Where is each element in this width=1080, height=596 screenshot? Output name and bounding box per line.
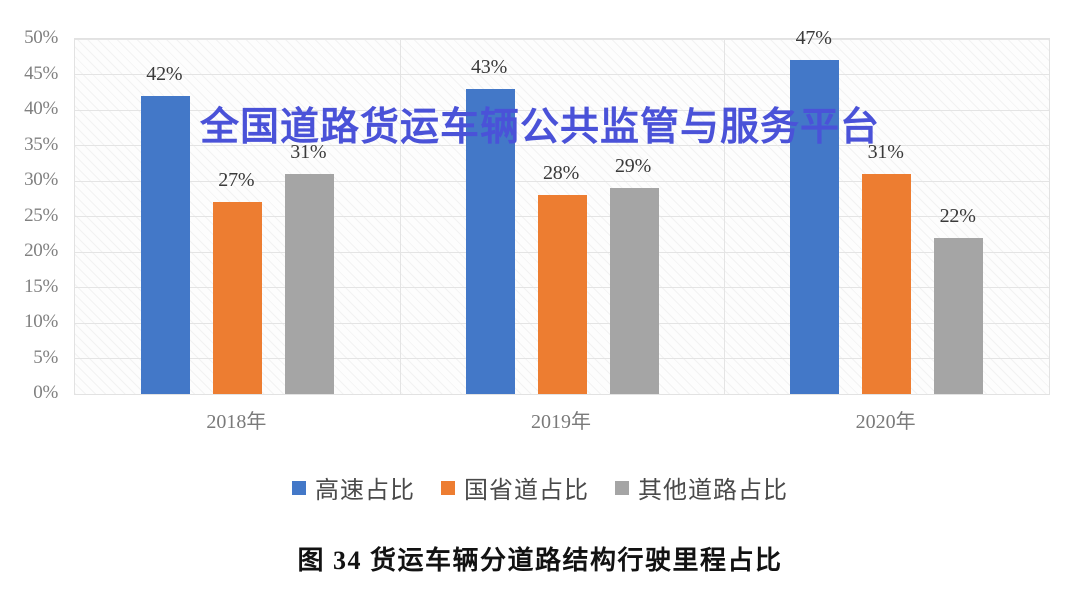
bar-value-label: 47% <box>796 27 832 50</box>
bar-value-label: 28% <box>543 162 579 185</box>
legend-item-label: 其他道路占比 <box>638 470 788 505</box>
legend-item-label: 国省道占比 <box>464 470 589 505</box>
legend-item[interactable]: 国省道占比 <box>441 470 589 505</box>
legend-item[interactable]: 高速占比 <box>292 470 415 505</box>
legend-item-label: 高速占比 <box>315 470 415 505</box>
x-axis-tick-label: 2019年 <box>531 405 591 434</box>
bar <box>610 188 659 394</box>
y-axis-tick-label: 45% <box>24 63 58 85</box>
legend-swatch-icon <box>441 481 455 495</box>
gridline <box>75 39 1049 40</box>
y-axis-tick-label: 15% <box>24 276 58 298</box>
bar <box>790 60 839 394</box>
bar <box>934 238 983 394</box>
bar-value-label: 43% <box>471 56 507 79</box>
figure-caption: 图 34 货运车辆分道路结构行驶里程占比 <box>0 540 1080 577</box>
gridline <box>75 74 1049 75</box>
y-axis: 0%5%10%15%20%25%30%35%40%45%50% <box>0 38 66 395</box>
bar-value-label: 42% <box>146 63 182 86</box>
bar-value-label: 22% <box>940 205 976 228</box>
legend-item[interactable]: 其他道路占比 <box>615 470 788 505</box>
chart-legend: 高速占比国省道占比其他道路占比 <box>0 470 1080 505</box>
gridline <box>75 110 1049 111</box>
x-axis-tick-label: 2018年 <box>206 405 266 434</box>
legend-swatch-icon <box>292 481 306 495</box>
plot-area <box>74 38 1050 395</box>
bar-value-label: 27% <box>218 169 254 192</box>
bar-value-label: 31% <box>868 141 904 164</box>
bar <box>213 202 262 394</box>
y-axis-tick-label: 40% <box>24 98 58 120</box>
bar <box>141 96 190 394</box>
bar <box>538 195 587 394</box>
x-axis: 2018年2019年2020年 <box>74 405 1050 437</box>
figure-chart: 0%5%10%15%20%25%30%35%40%45%50% 全国道路货运车辆… <box>0 0 1080 596</box>
y-axis-tick-label: 50% <box>24 27 58 49</box>
y-axis-tick-label: 30% <box>24 169 58 191</box>
bar-value-label: 29% <box>615 155 651 178</box>
bar <box>862 174 911 394</box>
y-axis-tick-label: 20% <box>24 240 58 262</box>
y-axis-tick-label: 0% <box>33 382 58 404</box>
y-axis-tick-label: 5% <box>33 347 58 369</box>
category-divider <box>724 39 725 394</box>
x-axis-tick-label: 2020年 <box>856 405 916 434</box>
y-axis-tick-label: 25% <box>24 205 58 227</box>
bar <box>285 174 334 394</box>
legend-swatch-icon <box>615 481 629 495</box>
y-axis-tick-label: 35% <box>24 134 58 156</box>
y-axis-tick-label: 10% <box>24 311 58 333</box>
bar <box>466 89 515 394</box>
category-divider <box>400 39 401 394</box>
bar-value-label: 31% <box>290 141 326 164</box>
